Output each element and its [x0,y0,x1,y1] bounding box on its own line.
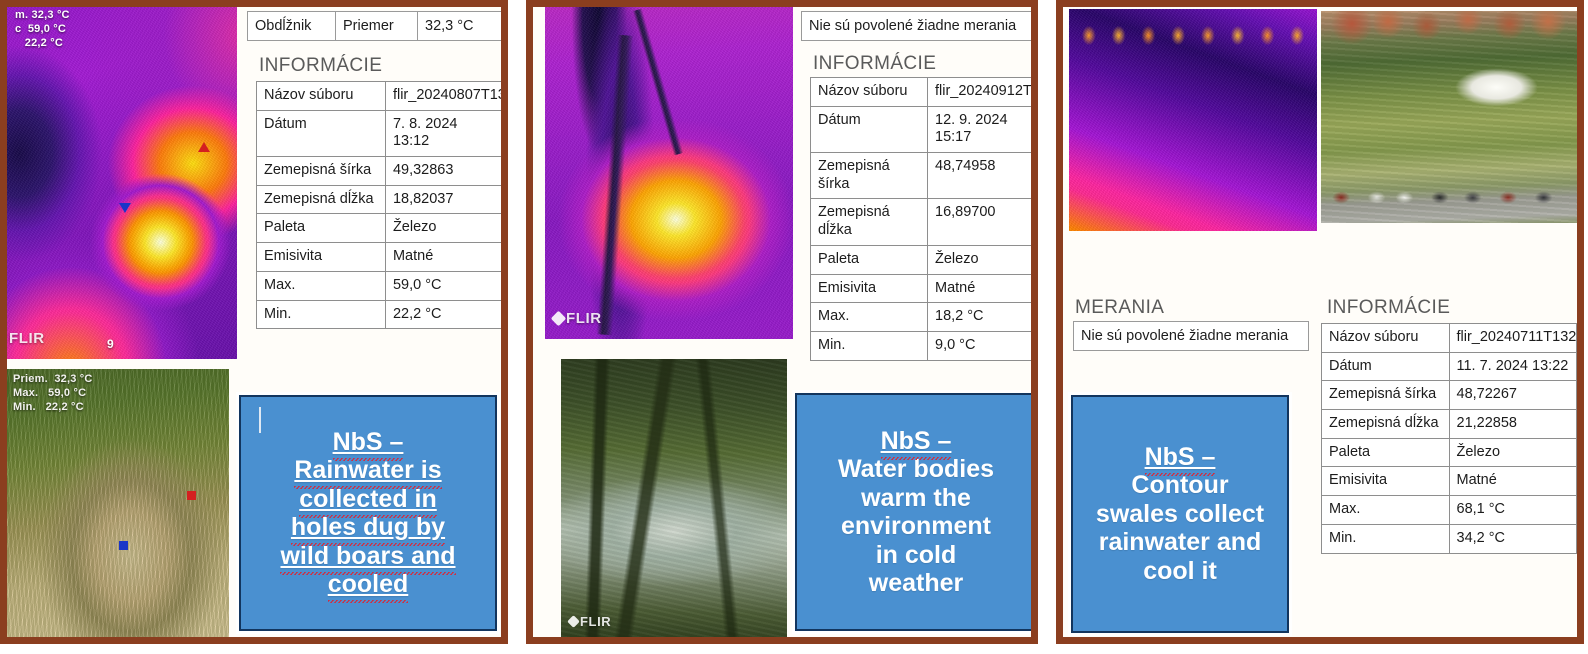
callout-line: NbS – [805,427,1027,456]
info-value: 48,74958 [928,153,1036,199]
info-key: Max. [257,271,386,300]
info-heading-1: INFORMÁCIE [257,49,384,82]
info-value: flir_20240711T132316.jpg [1449,324,1577,353]
callout-1-text: NbS –Rainwater iscollected inholes dug b… [249,428,487,599]
table-row: Zemepisná dĺžka 16,89700 [811,199,1036,245]
flir-text: FLIR [566,310,602,327]
info-key: Min. [1322,524,1450,553]
callout-line: warm the [805,484,1027,513]
callout-3-text: NbS –Contourswales collectrainwater andc… [1081,443,1279,586]
panel-1-content: m. 32,3 °C c 59,0 °C 22,2 °C FLIR 9 Prie… [7,7,501,637]
info-value: 18,82037 [385,185,504,214]
callout-line: wild boars and [249,542,487,571]
info-value: Matné [385,243,504,272]
info-key: Emisivita [811,274,928,303]
info-key: Zemepisná šírka [257,157,386,186]
info-heading-3: INFORMÁCIE [1325,291,1452,324]
table-row: Zemepisná šírka 49,32863 [257,157,505,186]
info-table-3: Názov súboru flir_20240711T132316.jpg Dá… [1321,323,1577,554]
callout-line: cool it [1081,557,1279,586]
info-value: 59,0 °C [385,271,504,300]
panel-3: MERANIA Nie sú povolené žiadne merania I… [1056,0,1584,644]
measurement-row-1: Obdĺžnik Priemer 32,3 °C [247,11,503,41]
flir-watermark-photo-2: FLIR [569,614,611,629]
table-row: Dátum 11. 7. 2024 13:22 [1322,352,1577,381]
table-row: Emisivita Matné [811,274,1036,303]
callout-line: NbS – [249,428,487,457]
callout-line: Rainwater is [249,456,487,485]
callout-line-text: weather [869,569,963,597]
callout-2-text: NbS –Water bodieswarm theenvironmentin c… [805,427,1027,598]
photo-overlay-readout-1: Priem. 32,3 °C Max. 59,0 °C Min. 22,2 °C [13,373,93,414]
info-key: Paleta [257,214,386,243]
callout-line-text: collected in [299,485,437,513]
flir-text: FLIR [9,330,45,347]
tree-trunk-thermal [597,35,634,335]
measurement-row-2: Nie sú povolené žiadne merania [801,11,1033,41]
callout-line-text: NbS – [1145,443,1216,471]
table-row: Paleta Železo [811,245,1036,274]
callout-line: in cold [805,541,1027,570]
table-row: Max. 18,2 °C [811,303,1036,332]
callout-line-text: warm the [861,484,971,512]
table-row: Emisivita Matné [257,243,505,272]
info-value: Železo [928,245,1036,274]
info-value: flir_20240807T131350.jpg [385,82,504,111]
marker-max-point [198,142,210,152]
info-value: 48,72267 [1449,381,1577,410]
panel-2: FLIR FLIR Nie sú povolené žiadne merania… [526,0,1038,644]
callout-3[interactable]: NbS –Contourswales collectrainwater andc… [1071,395,1289,633]
callout-line-text: swales collect [1096,500,1264,528]
info-key: Paleta [1322,438,1450,467]
table-row: Názov súboru flir_20240807T131350.jpg [257,82,505,111]
info-value: 21,22858 [1449,410,1577,439]
info-value: 11. 7. 2024 13:22 [1449,352,1577,381]
callout-2[interactable]: NbS –Water bodieswarm theenvironmentin c… [795,393,1037,631]
info-key: Zemepisná dĺžka [257,185,386,214]
thermal-hotspot-row [1069,18,1317,54]
info-key: Zemepisná šírka [811,153,928,199]
table-row: Min. 34,2 °C [1322,524,1577,553]
measurement-note: Nie sú povolené žiadne merania [1074,322,1308,350]
flir-watermark-1: FLIR [13,330,45,347]
measurement-row-3: Nie sú povolené žiadne merania [1073,321,1309,351]
flir-logo-icon [567,615,580,628]
table-row: Zemepisná dĺžka 18,82037 [257,185,505,214]
callout-line-text: holes dug by [291,513,445,541]
info-key: Max. [1322,496,1450,525]
flir-logo-icon [551,311,567,327]
measurements-heading-3: MERANIA [1073,291,1166,324]
info-value: Matné [1449,467,1577,496]
info-value: Matné [928,274,1036,303]
info-value: 68,1 °C [1449,496,1577,525]
panel-2-content: FLIR FLIR Nie sú povolené žiadne merania… [533,7,1031,637]
callout-line-text: environment [841,512,991,540]
info-key: Emisivita [1322,467,1450,496]
table-row: Zemepisná šírka 48,72267 [1322,381,1577,410]
table-row: Dátum 12. 9. 2024 15:17 [811,106,1036,152]
table-row: Názov súboru flir_20240711T132316.jpg [1322,324,1577,353]
info-heading-2: INFORMÁCIE [811,47,938,80]
thermal-image-3 [1069,9,1317,231]
info-key: Paleta [811,245,928,274]
callout-line: weather [805,569,1027,598]
table-row: Paleta Železo [257,214,505,243]
callout-line-text: NbS – [333,428,404,456]
table-row: Zemepisná dĺžka 21,22858 [1322,410,1577,439]
panel-3-content: MERANIA Nie sú povolené žiadne merania I… [1063,7,1577,637]
callout-line-text: cool it [1143,557,1217,585]
callout-line: environment [805,512,1027,541]
callout-line-text: NbS – [881,427,952,455]
marker-min-point [119,203,131,213]
info-key: Zemepisná dĺžka [811,199,928,245]
info-key: Názov súboru [1322,324,1450,353]
info-table-1: Názov súboru flir_20240807T131350.jpg Dá… [256,81,505,329]
thermal-image-2: FLIR [545,7,793,339]
spot-label-1: 9 [107,337,114,351]
callout-line-text: in cold [876,541,957,569]
measurement-note: Nie sú povolené žiadne merania [802,12,1032,40]
thermal-overlay-readout-1: m. 32,3 °C c 59,0 °C 22,2 °C [15,9,70,50]
callout-line: collected in [249,485,487,514]
info-key: Názov súboru [811,78,928,107]
measurement-shape: Obdĺžnik [248,12,336,40]
info-key: Dátum [811,106,928,152]
info-value: 9,0 °C [928,331,1036,360]
flir-text: FLIR [580,614,611,629]
tree-branch-thermal [633,9,684,156]
callout-line: swales collect [1081,500,1279,529]
callout-line: holes dug by [249,513,487,542]
callout-line-text: wild boars and [280,542,455,570]
info-table-3-body: Názov súboru flir_20240711T132316.jpg Dá… [1322,324,1577,554]
slide-canvas: m. 32,3 °C c 59,0 °C 22,2 °C FLIR 9 Prie… [0,0,1588,654]
table-row: Zemepisná šírka 48,74958 [811,153,1036,199]
panel-1: m. 32,3 °C c 59,0 °C 22,2 °C FLIR 9 Prie… [0,0,508,644]
info-table-2-body: Názov súboru flir_20240912T151739.jpg Dá… [811,78,1036,361]
info-key: Zemepisná šírka [1322,381,1450,410]
info-key: Dátum [257,110,386,156]
info-table-2: Názov súboru flir_20240912T151739.jpg Dá… [810,77,1036,361]
info-value: 22,2 °C [385,300,504,329]
callout-line-text: rainwater and [1099,528,1262,556]
info-value: 16,89700 [928,199,1036,245]
photo-forest-2: FLIR [561,359,787,637]
marker-min-point-photo [119,541,128,550]
callout-line: NbS – [1081,443,1279,472]
table-row: Emisivita Matné [1322,467,1577,496]
callout-line: rainwater and [1081,528,1279,557]
info-key: Max. [811,303,928,332]
table-row: Max. 59,0 °C [257,271,505,300]
table-row: Max. 68,1 °C [1322,496,1577,525]
text-cursor [259,407,261,433]
info-value: 7. 8. 2024 13:12 [385,110,504,156]
info-key: Zemepisná dĺžka [1322,410,1450,439]
info-key: Min. [257,300,386,329]
info-value: Železo [385,214,504,243]
thermal-image-1: m. 32,3 °C c 59,0 °C 22,2 °C FLIR 9 [7,7,237,359]
info-key: Emisivita [257,243,386,272]
callout-line-text: cooled [328,570,409,598]
callout-line-text: Rainwater is [294,456,441,484]
info-value: 49,32863 [385,157,504,186]
info-key: Dátum [1322,352,1450,381]
info-value: flir_20240912T151739.jpg [928,78,1036,107]
measurement-value: 32,3 °C [418,12,502,40]
info-table-1-body: Názov súboru flir_20240807T131350.jpg Dá… [257,82,505,329]
photo-aerial-3 [1321,11,1579,223]
measurement-metric: Priemer [336,12,418,40]
table-row: Paleta Železo [1322,438,1577,467]
info-value: Železo [1449,438,1577,467]
info-value: 34,2 °C [1449,524,1577,553]
table-row: Názov súboru flir_20240912T151739.jpg [811,78,1036,107]
info-key: Min. [811,331,928,360]
marker-max-point-photo [187,491,196,500]
table-row: Dátum 7. 8. 2024 13:12 [257,110,505,156]
aerial-parked-cars [1326,187,1579,208]
callout-1[interactable]: NbS –Rainwater iscollected inholes dug b… [239,395,497,631]
info-value: 18,2 °C [928,303,1036,332]
table-row: Min. 9,0 °C [811,331,1036,360]
photo-soil-1: Priem. 32,3 °C Max. 59,0 °C Min. 22,2 °C [7,369,229,637]
table-row: Min. 22,2 °C [257,300,505,329]
info-value: 12. 9. 2024 15:17 [928,106,1036,152]
info-key: Názov súboru [257,82,386,111]
flir-watermark-2: FLIR [553,310,602,327]
